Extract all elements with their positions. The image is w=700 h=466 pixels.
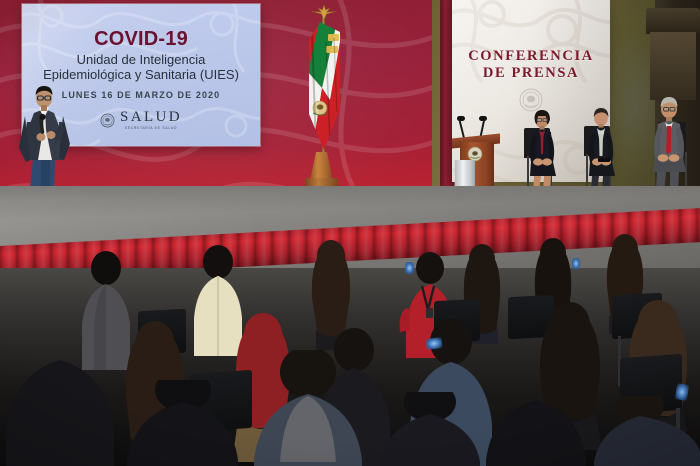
slide-subtitle-line-1: Unidad de Inteligencia bbox=[22, 52, 260, 67]
column-shaft bbox=[650, 32, 696, 100]
audience-foreground-far-right bbox=[586, 396, 700, 466]
audience-man-grey-vest bbox=[238, 350, 378, 466]
audience-foreground-right bbox=[476, 400, 596, 466]
press-conference-scene: CONFERENCIA DE PRENSA COVID-19 Unidad de… bbox=[0, 0, 700, 466]
salud-seal-icon bbox=[100, 113, 115, 128]
audience-foreground-center-left bbox=[118, 380, 248, 466]
audience-foreground-right-center bbox=[370, 392, 490, 466]
mexican-flag bbox=[306, 22, 342, 152]
audience-phone-screen bbox=[572, 258, 580, 269]
audience-phone-screen bbox=[405, 262, 414, 274]
salud-wordmark: SALUD bbox=[120, 110, 182, 125]
flag-eagle-finial-icon bbox=[310, 4, 338, 20]
column-cornice bbox=[646, 8, 700, 34]
slide-title: COVID-19 bbox=[22, 28, 260, 51]
national-seal-icon bbox=[519, 88, 543, 112]
banner-heading: CONFERENCIA DE PRENSA bbox=[452, 48, 610, 82]
audience-phone-screen bbox=[425, 337, 442, 350]
banner-line-2: DE PRENSA bbox=[452, 65, 610, 82]
salud-subtext: SECRETARÍA DE SALUD bbox=[120, 126, 182, 130]
banner-line-1: CONFERENCIA bbox=[452, 48, 610, 65]
audience-foreground-left bbox=[0, 360, 120, 466]
slide-subtitle-line-2: Epidemiológica y Sanitaria (UIES) bbox=[22, 67, 260, 82]
